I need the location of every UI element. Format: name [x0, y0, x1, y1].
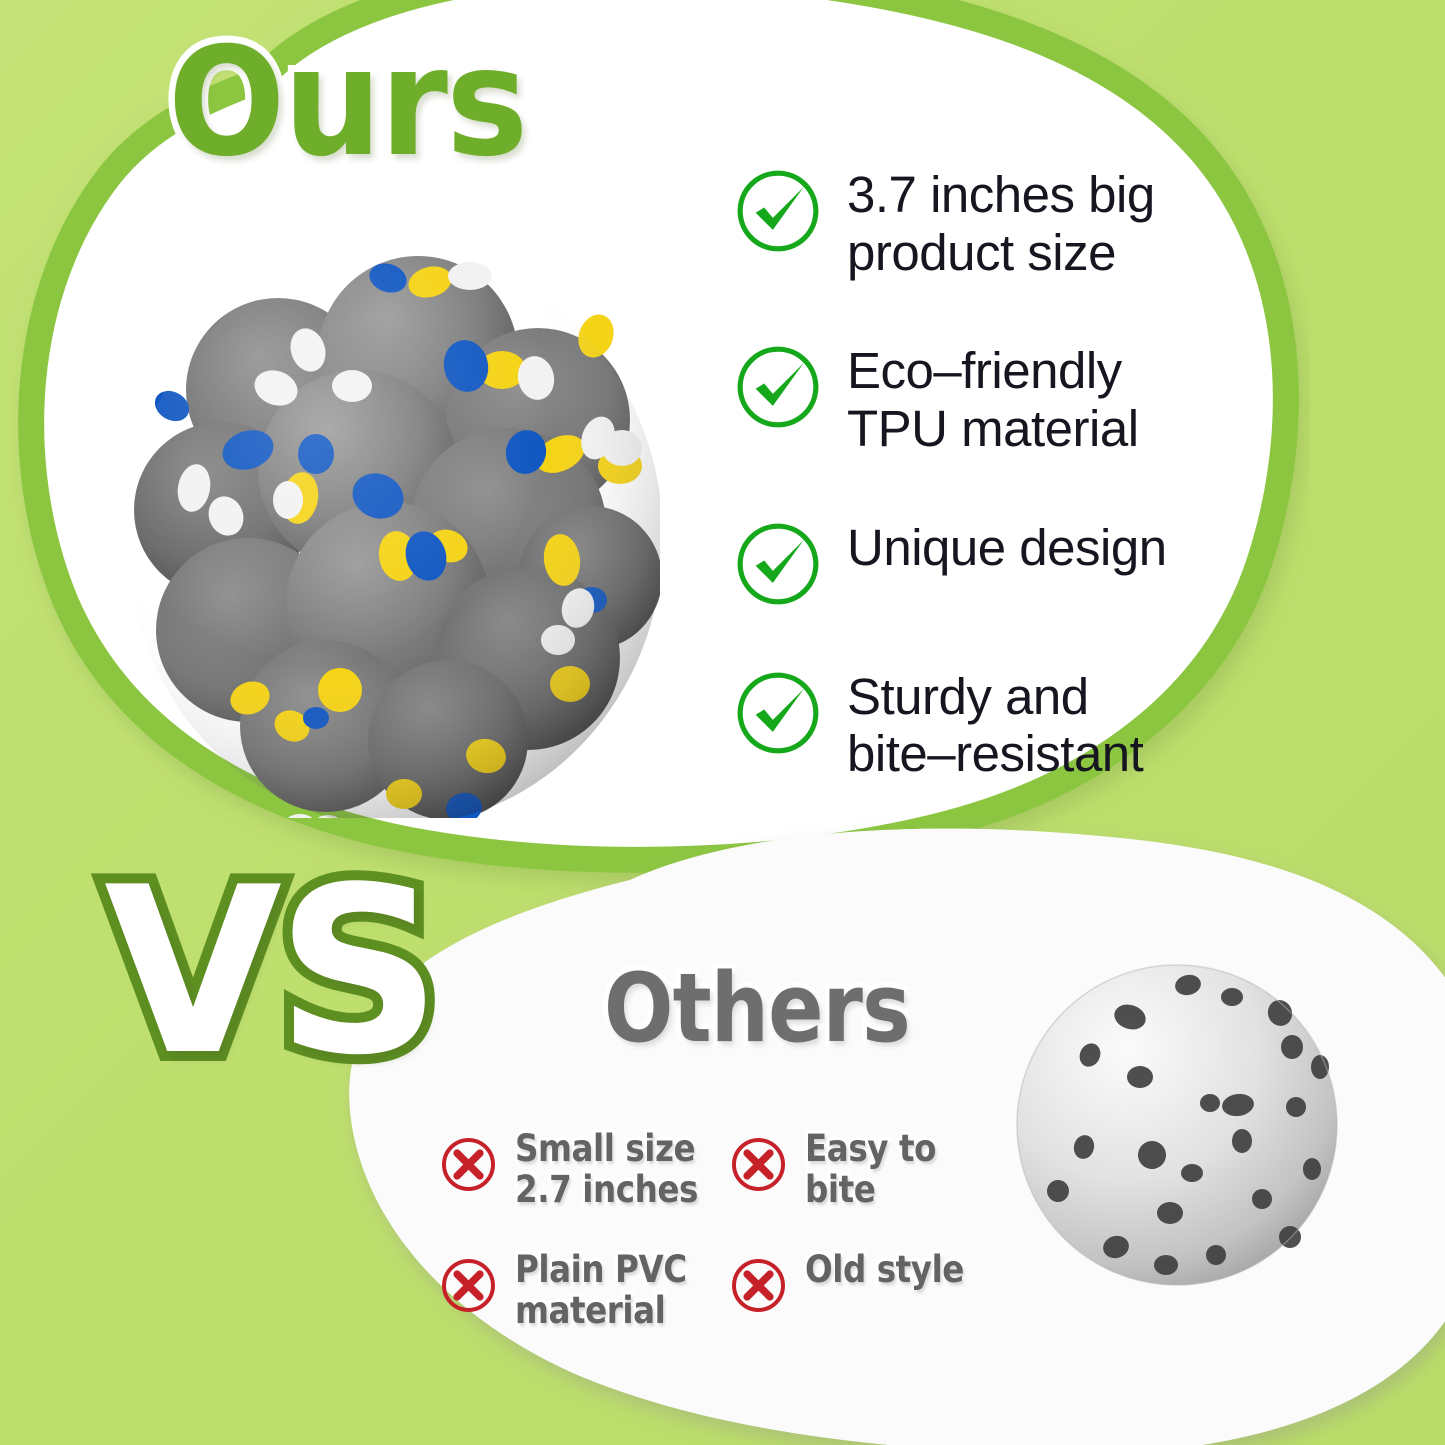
others-title: Others: [604, 962, 910, 1057]
cross-circle-icon: [440, 1136, 497, 1193]
check-circle-icon: [735, 521, 821, 607]
con-label: Old style: [805, 1249, 964, 1290]
ours-product-image: [130, 248, 660, 818]
con-label: Plain PVC material: [515, 1249, 687, 1332]
feature-item: Sturdy and bite–resistant: [735, 662, 1205, 783]
cross-circle-icon: [730, 1136, 787, 1193]
con-item: Plain PVC material: [440, 1249, 730, 1332]
con-label: Small size 2.7 inches: [515, 1128, 698, 1211]
others-product-image: [1010, 955, 1345, 1295]
comparison-infographic: Ours: [0, 0, 1445, 1445]
cross-circle-icon: [730, 1257, 787, 1314]
feature-item: Unique design: [735, 513, 1205, 607]
cross-circle-icon: [440, 1257, 497, 1314]
con-item: Easy to bite: [730, 1128, 1010, 1211]
feature-label: Eco–friendly TPU material: [847, 336, 1139, 457]
ours-title: Ours: [168, 28, 526, 178]
others-cons-list: Small size 2.7 inches Easy to bite Plain…: [440, 1128, 1010, 1332]
con-item: Small size 2.7 inches: [440, 1128, 730, 1211]
con-label: Easy to bite: [805, 1128, 985, 1211]
feature-item: 3.7 inches big product size: [735, 160, 1205, 281]
feature-label: Unique design: [847, 513, 1167, 577]
feature-item: Eco–friendly TPU material: [735, 336, 1205, 457]
check-circle-icon: [735, 168, 821, 254]
feature-label: 3.7 inches big product size: [847, 160, 1155, 281]
con-item: Old style: [730, 1249, 1010, 1332]
feature-label: Sturdy and bite–resistant: [847, 662, 1143, 783]
versus-label: VS: [104, 858, 436, 1088]
check-circle-icon: [735, 344, 821, 430]
ours-feature-list: 3.7 inches big product size Eco–friendly…: [735, 160, 1205, 838]
check-circle-icon: [735, 670, 821, 756]
